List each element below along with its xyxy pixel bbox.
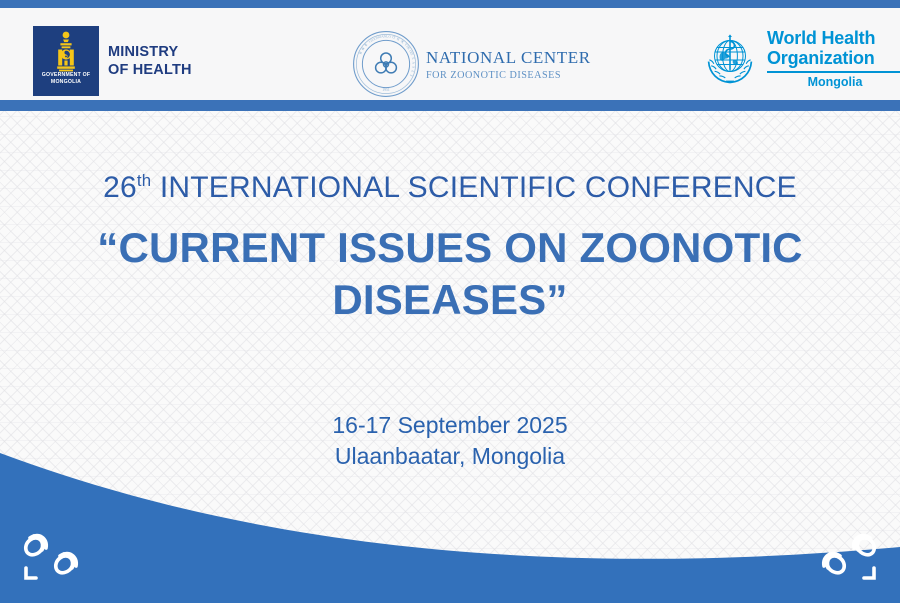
svg-text:S: S xyxy=(411,66,415,69)
footer-wave-decoration xyxy=(0,443,900,603)
title-block: 26th INTERNATIONAL SCIENTIFIC CONFERENCE… xyxy=(0,111,900,472)
national-center-line2: FOR ZOONOTIC DISEASES xyxy=(426,70,591,81)
biohazard-seal-icon: N A T I O N A L C E N T E R F O R xyxy=(352,30,420,98)
conference-title-slide: GOVERNMENT OF MONGOLIA MINISTRY OF HEALT… xyxy=(0,0,900,603)
ministry-of-health-logo: GOVERNMENT OF MONGOLIA MINISTRY OF HEALT… xyxy=(33,26,192,96)
event-date: 16-17 September 2025 xyxy=(0,410,900,441)
national-center-logo: N A T I O N A L C E N T E R F O R xyxy=(352,30,591,98)
emblem-caption: GOVERNMENT OF MONGOLIA xyxy=(33,72,99,86)
header-divider-bar xyxy=(0,100,900,111)
who-logo: World Health Organization Mongolia xyxy=(700,28,900,89)
conference-heading: 26th INTERNATIONAL SCIENTIFIC CONFERENCE xyxy=(0,171,900,205)
national-center-line1: NATIONAL CENTER xyxy=(426,48,591,68)
who-emblem-icon xyxy=(700,29,760,87)
svg-text:E: E xyxy=(411,57,415,60)
svg-text:S: S xyxy=(410,53,415,57)
mongolian-ulzii-knot-ornament xyxy=(16,528,96,590)
page-title: “CURRENT ISSUES ON ZOONOTIC DISEASES” xyxy=(0,222,900,326)
who-divider xyxy=(767,71,900,73)
ordinal-suffix: th xyxy=(137,171,151,190)
who-country: Mongolia xyxy=(767,75,900,89)
svg-text:N: N xyxy=(384,34,387,38)
svg-text:E: E xyxy=(410,70,415,74)
ministry-of-health-name: MINISTRY OF HEALTH xyxy=(108,43,192,79)
svg-text:S: S xyxy=(409,74,414,78)
top-accent-bar xyxy=(0,0,900,8)
who-name-line2: Organization xyxy=(767,48,900,68)
conference-number: 26 xyxy=(103,171,137,204)
mongolia-government-emblem: GOVERNMENT OF MONGOLIA xyxy=(33,26,99,96)
seal-year: 1951 xyxy=(382,88,390,92)
header-logo-strip: GOVERNMENT OF MONGOLIA MINISTRY OF HEALT… xyxy=(0,8,900,100)
who-name-line1: World Health xyxy=(767,28,900,48)
svg-text:A: A xyxy=(412,62,416,65)
mongolian-ulzii-knot-ornament-mirrored xyxy=(804,528,884,590)
svg-text:R: R xyxy=(364,42,369,47)
conference-heading-text: INTERNATIONAL SCIENTIFIC CONFERENCE xyxy=(151,171,797,204)
